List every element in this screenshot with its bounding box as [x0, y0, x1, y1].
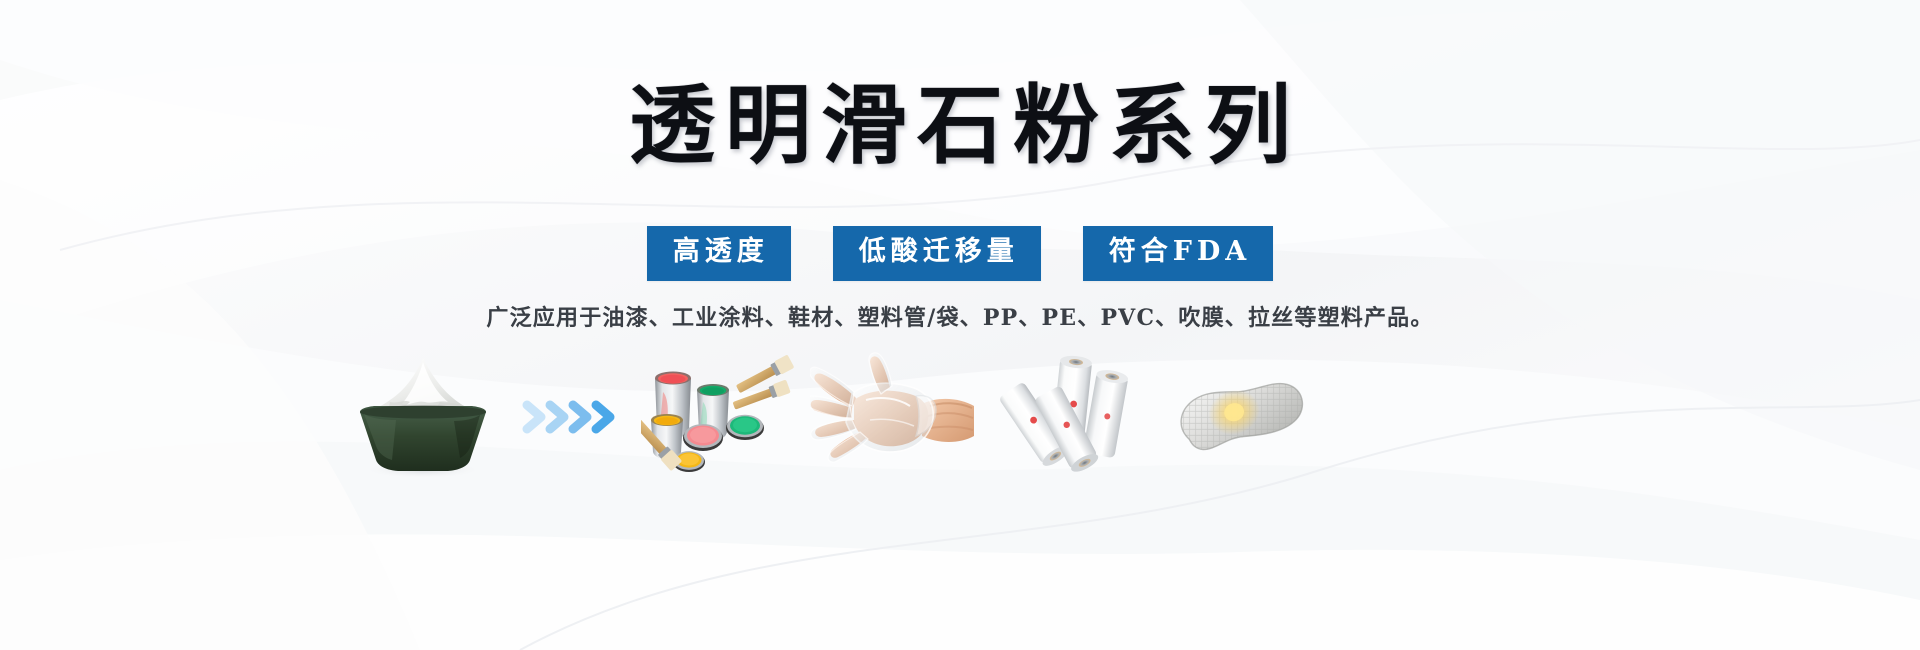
- description-container: 广泛应用于油漆、工业涂料、鞋材、塑料管/袋、PP、PE、PVC、吹膜、拉丝等塑料…: [0, 300, 1920, 332]
- feature-badge-fda-compliant[interactable]: 符合FDA: [1083, 226, 1274, 281]
- paint-cans-icon: [641, 352, 796, 482]
- shoe-sole-icon: [1167, 352, 1317, 482]
- product-image-strip: [330, 352, 1590, 482]
- feature-badge-high-transparency[interactable]: 高透度: [647, 226, 791, 281]
- plastic-film-rolls-icon: [993, 352, 1143, 482]
- feature-badge-low-acid-migration[interactable]: 低酸迁移量: [833, 226, 1041, 281]
- talc-powder-bowl-icon: [330, 352, 515, 482]
- feature-badge-list: 高透度 低酸迁移量 符合FDA: [0, 226, 1920, 281]
- plastic-glove-hand-icon: [810, 352, 975, 482]
- process-arrow-chevrons-icon: [521, 352, 631, 482]
- page-title: 透明滑石粉系列: [619, 78, 1301, 174]
- product-banner: 透明滑石粉系列 高透度 低酸迁移量 符合FDA 广泛应用于油漆、工业涂料、鞋材、…: [0, 0, 1920, 650]
- banner-title-container: 透明滑石粉系列: [0, 78, 1920, 174]
- application-description: 广泛应用于油漆、工业涂料、鞋材、塑料管/袋、PP、PE、PVC、吹膜、拉丝等塑料…: [486, 300, 1433, 332]
